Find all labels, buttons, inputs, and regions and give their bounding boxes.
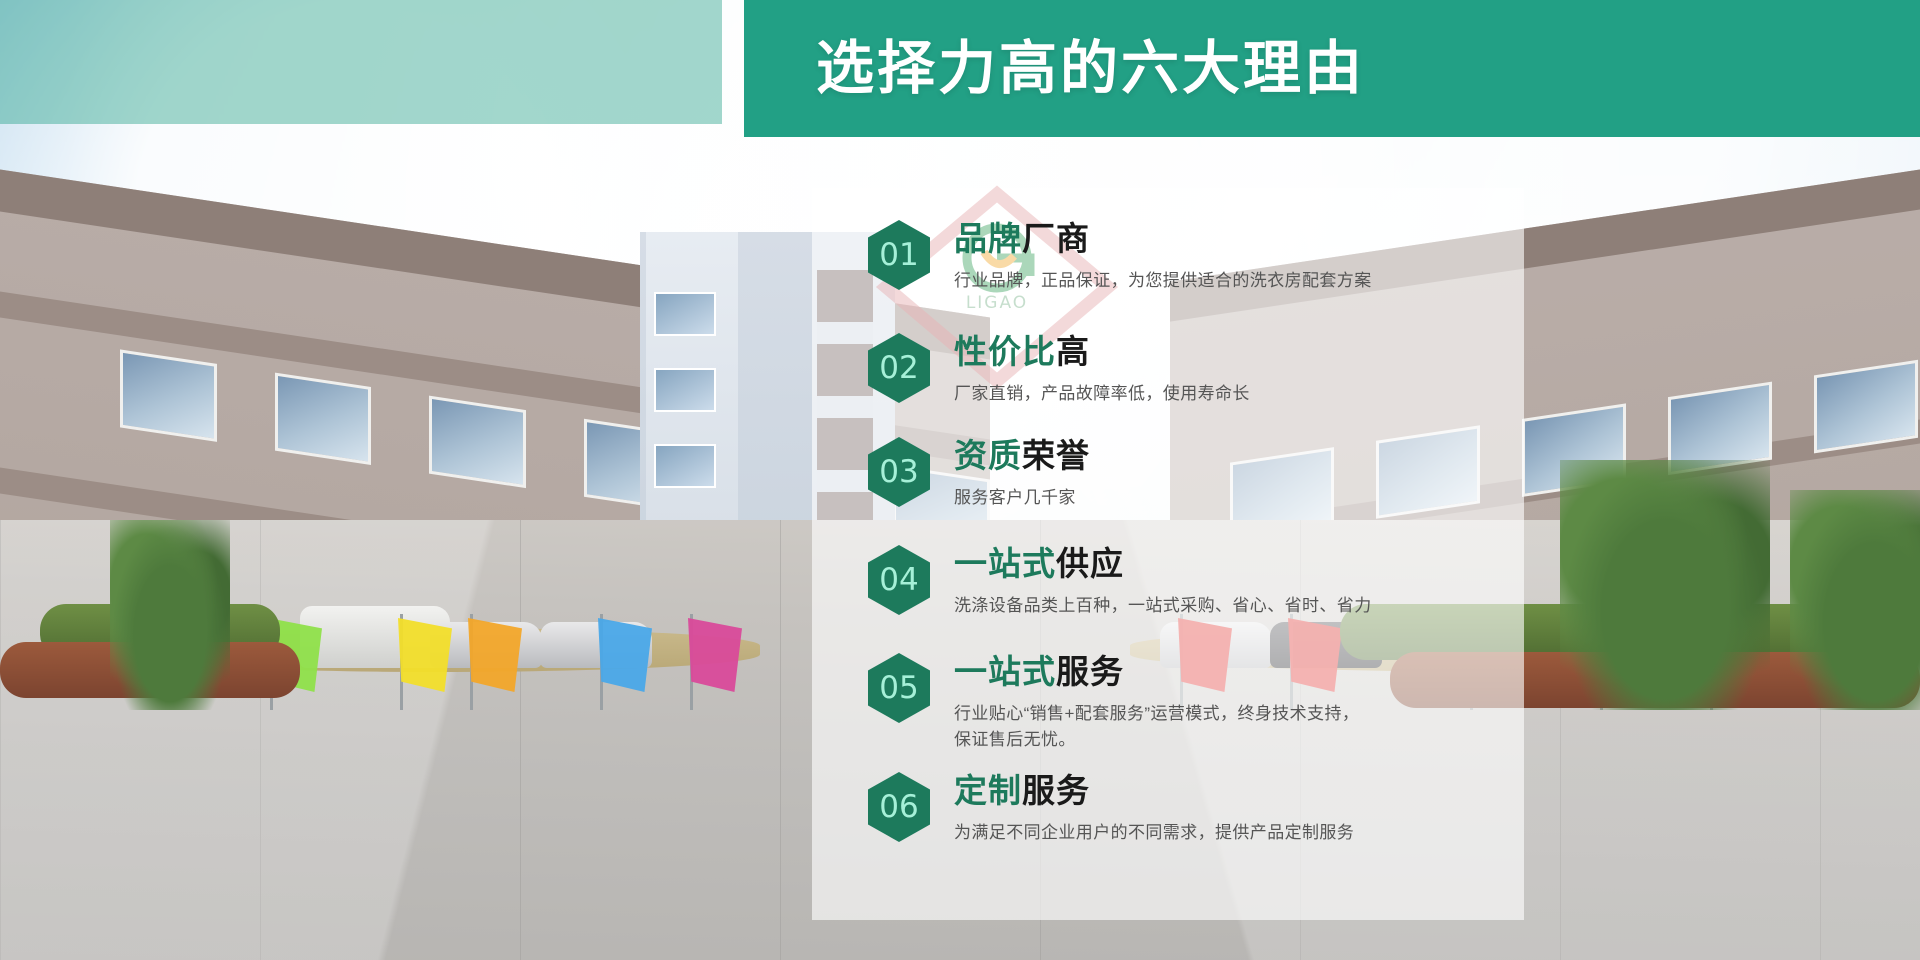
reason-title: 定制服务 xyxy=(954,772,1354,811)
hexagon-number-badge: 03 xyxy=(868,437,930,507)
reason-number: 06 xyxy=(879,789,918,825)
reason-number: 02 xyxy=(879,350,918,386)
reason-text-block: 一站式服务 行业贴心“销售+配套服务”运营模式，终身技术支持， 保证售后无忧。 xyxy=(954,651,1359,754)
window xyxy=(120,349,217,441)
reason-title-rest: 供应 xyxy=(1056,545,1124,582)
reason-title: 性价比高 xyxy=(954,333,1250,372)
hexagon-number-badge: 06 xyxy=(868,772,930,842)
window xyxy=(275,373,372,465)
hexagon-number-badge: 02 xyxy=(868,333,930,403)
reason-title-highlight: 一站式 xyxy=(954,653,1056,690)
decorative-flag xyxy=(398,618,452,692)
reason-text-block: 品牌厂商 行业品牌，正品保证，为您提供适合的洗衣房配套方案 xyxy=(954,218,1372,294)
reason-item-05[interactable]: 05 一站式服务 行业贴心“销售+配套服务”运营模式，终身技术支持， 保证售后无… xyxy=(868,651,1508,754)
reason-description: 行业品牌，正品保证，为您提供适合的洗衣房配套方案 xyxy=(954,268,1372,294)
reason-item-01[interactable]: 01 品牌厂商 行业品牌，正品保证，为您提供适合的洗衣房配套方案 xyxy=(868,218,1508,294)
reason-title-highlight: 性价比 xyxy=(954,333,1056,370)
page-title: 选择力高的六大理由 xyxy=(744,40,1365,98)
reason-title-rest: 厂商 xyxy=(1022,220,1090,257)
reason-title-rest: 服务 xyxy=(1056,653,1124,690)
reason-title-rest: 荣誉 xyxy=(1022,437,1090,474)
reason-title: 一站式服务 xyxy=(954,653,1359,692)
reason-description: 行业贴心“销售+配套服务”运营模式，终身技术支持， 保证售后无忧。 xyxy=(954,701,1359,754)
hexagon-number-badge: 05 xyxy=(868,653,930,723)
reason-description: 服务客户几千家 xyxy=(954,485,1090,511)
reason-description: 洗涤设备品类上百种，一站式采购、省心、省时、省力 xyxy=(954,593,1372,619)
reason-text-block: 一站式供应 洗涤设备品类上百种，一站式采购、省心、省时、省力 xyxy=(954,543,1372,619)
reasons-list: 01 品牌厂商 行业品牌，正品保证，为您提供适合的洗衣房配套方案 02 性价比高 xyxy=(812,188,1524,920)
window xyxy=(1814,360,1918,454)
reason-title-rest: 服务 xyxy=(1022,772,1090,809)
window xyxy=(429,396,526,488)
reason-item-04[interactable]: 04 一站式供应 洗涤设备品类上百种，一站式采购、省心、省时、省力 xyxy=(868,543,1508,619)
decorative-flag xyxy=(468,618,522,692)
reason-text-block: 性价比高 厂家直销，产品故障率低，使用寿命长 xyxy=(954,331,1250,407)
reason-number: 04 xyxy=(879,562,918,598)
window xyxy=(654,292,716,336)
reason-title-highlight: 资质 xyxy=(954,437,1022,474)
reason-item-03[interactable]: 03 资质荣誉 服务客户几千家 xyxy=(868,435,1508,511)
reason-title-rest: 高 xyxy=(1056,333,1090,370)
hexagon-number-badge: 04 xyxy=(868,545,930,615)
hexagon-number-badge: 01 xyxy=(868,220,930,290)
reason-title-highlight: 品牌 xyxy=(954,220,1022,257)
promo-banner-stage: 选择力高的六大理由 LIGAO 01 品牌厂商 行业品牌，正 xyxy=(0,0,1920,960)
reason-number: 03 xyxy=(879,454,918,490)
window xyxy=(654,444,716,488)
reason-description: 为满足不同企业用户的不同需求，提供产品定制服务 xyxy=(954,820,1354,846)
reason-number: 05 xyxy=(879,670,918,706)
reason-item-06[interactable]: 06 定制服务 为满足不同企业用户的不同需求，提供产品定制服务 xyxy=(868,770,1508,846)
reason-title-highlight: 一站式 xyxy=(954,545,1056,582)
reason-text-block: 资质荣誉 服务客户几千家 xyxy=(954,435,1090,511)
tree xyxy=(110,520,230,710)
tree xyxy=(1560,460,1770,710)
reason-title: 品牌厂商 xyxy=(954,220,1372,259)
decorative-flag xyxy=(688,618,742,692)
window xyxy=(654,368,716,412)
banner-left-tint-overlay xyxy=(0,0,722,124)
reasons-card: LIGAO 01 品牌厂商 行业品牌，正品保证，为您提供适合的洗衣房配套方案 0… xyxy=(812,188,1524,920)
reason-title-highlight: 定制 xyxy=(954,772,1022,809)
header-banner: 选择力高的六大理由 xyxy=(744,0,1920,137)
reason-title: 资质荣誉 xyxy=(954,437,1090,476)
decorative-flag xyxy=(598,618,652,692)
reason-text-block: 定制服务 为满足不同企业用户的不同需求，提供产品定制服务 xyxy=(954,770,1354,846)
reason-title: 一站式供应 xyxy=(954,545,1372,584)
tree xyxy=(1790,490,1920,710)
reason-description: 厂家直销，产品故障率低，使用寿命长 xyxy=(954,381,1250,407)
reason-item-02[interactable]: 02 性价比高 厂家直销，产品故障率低，使用寿命长 xyxy=(868,331,1508,407)
reason-number: 01 xyxy=(879,237,918,273)
